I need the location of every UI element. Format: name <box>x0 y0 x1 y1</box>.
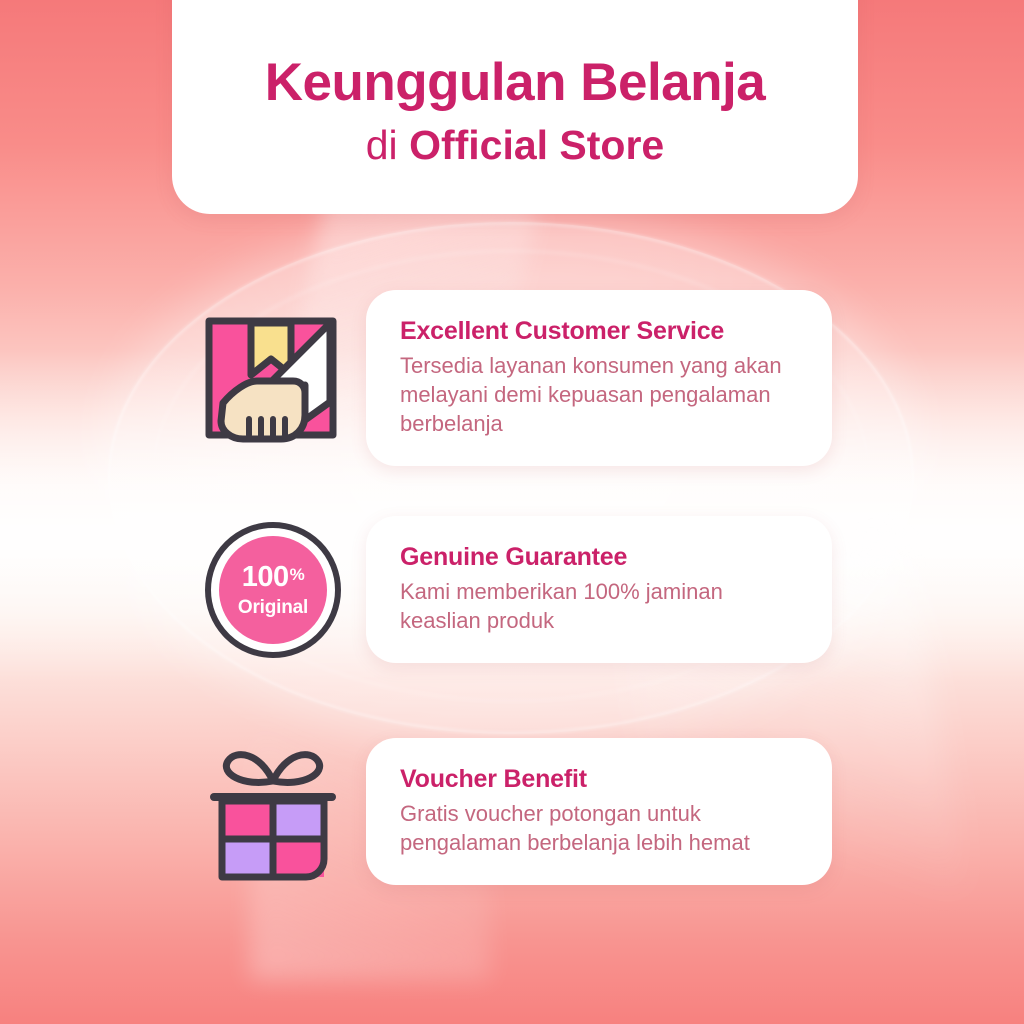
feature-card: Genuine Guarantee Kami memberikan 100% j… <box>366 516 832 663</box>
promo-poster: Keunggulan Belanja di Official Store <box>0 0 1024 1024</box>
handshake-box-icon <box>199 307 347 449</box>
feature-card: Excellent Customer Service Tersedia laya… <box>366 290 832 466</box>
original-badge-percentage: 100% <box>242 563 305 592</box>
feature-title: Excellent Customer Service <box>400 316 802 347</box>
original-badge-number: 100 <box>242 563 289 592</box>
feature-title: Voucher Benefit <box>400 764 802 795</box>
page-title-primary: Keunggulan Belanja <box>265 55 765 111</box>
gift-box-icon <box>202 739 344 885</box>
feature-title: Genuine Guarantee <box>400 542 802 573</box>
original-badge-inner: 100% Original <box>219 536 327 644</box>
original-badge-icon: 100% Original <box>205 522 341 658</box>
feature-icon-slot <box>180 307 366 449</box>
feature-description: Kami memberikan 100% jaminan keaslian pr… <box>400 577 802 635</box>
feature-description: Gratis voucher potongan untuk pengalaman… <box>400 799 802 857</box>
page-title-secondary-emphasis: Official Store <box>409 122 664 168</box>
feature-row-voucher-benefit: Voucher Benefit Gratis voucher potongan … <box>180 738 832 885</box>
feature-icon-slot <box>180 739 366 885</box>
feature-card: Voucher Benefit Gratis voucher potongan … <box>366 738 832 885</box>
page-title-secondary: di Official Store <box>366 123 664 168</box>
original-badge-percent-sign: % <box>290 566 305 583</box>
header-card: Keunggulan Belanja di Official Store <box>172 0 858 214</box>
feature-row-genuine-guarantee: 100% Original Genuine Guarantee Kami mem… <box>180 516 832 663</box>
page-title-secondary-prefix: di <box>366 122 409 168</box>
original-badge-label: Original <box>238 598 308 617</box>
feature-row-customer-service: Excellent Customer Service Tersedia laya… <box>180 290 832 466</box>
feature-description: Tersedia layanan konsumen yang akan mela… <box>400 351 802 438</box>
feature-icon-slot: 100% Original <box>180 522 366 658</box>
